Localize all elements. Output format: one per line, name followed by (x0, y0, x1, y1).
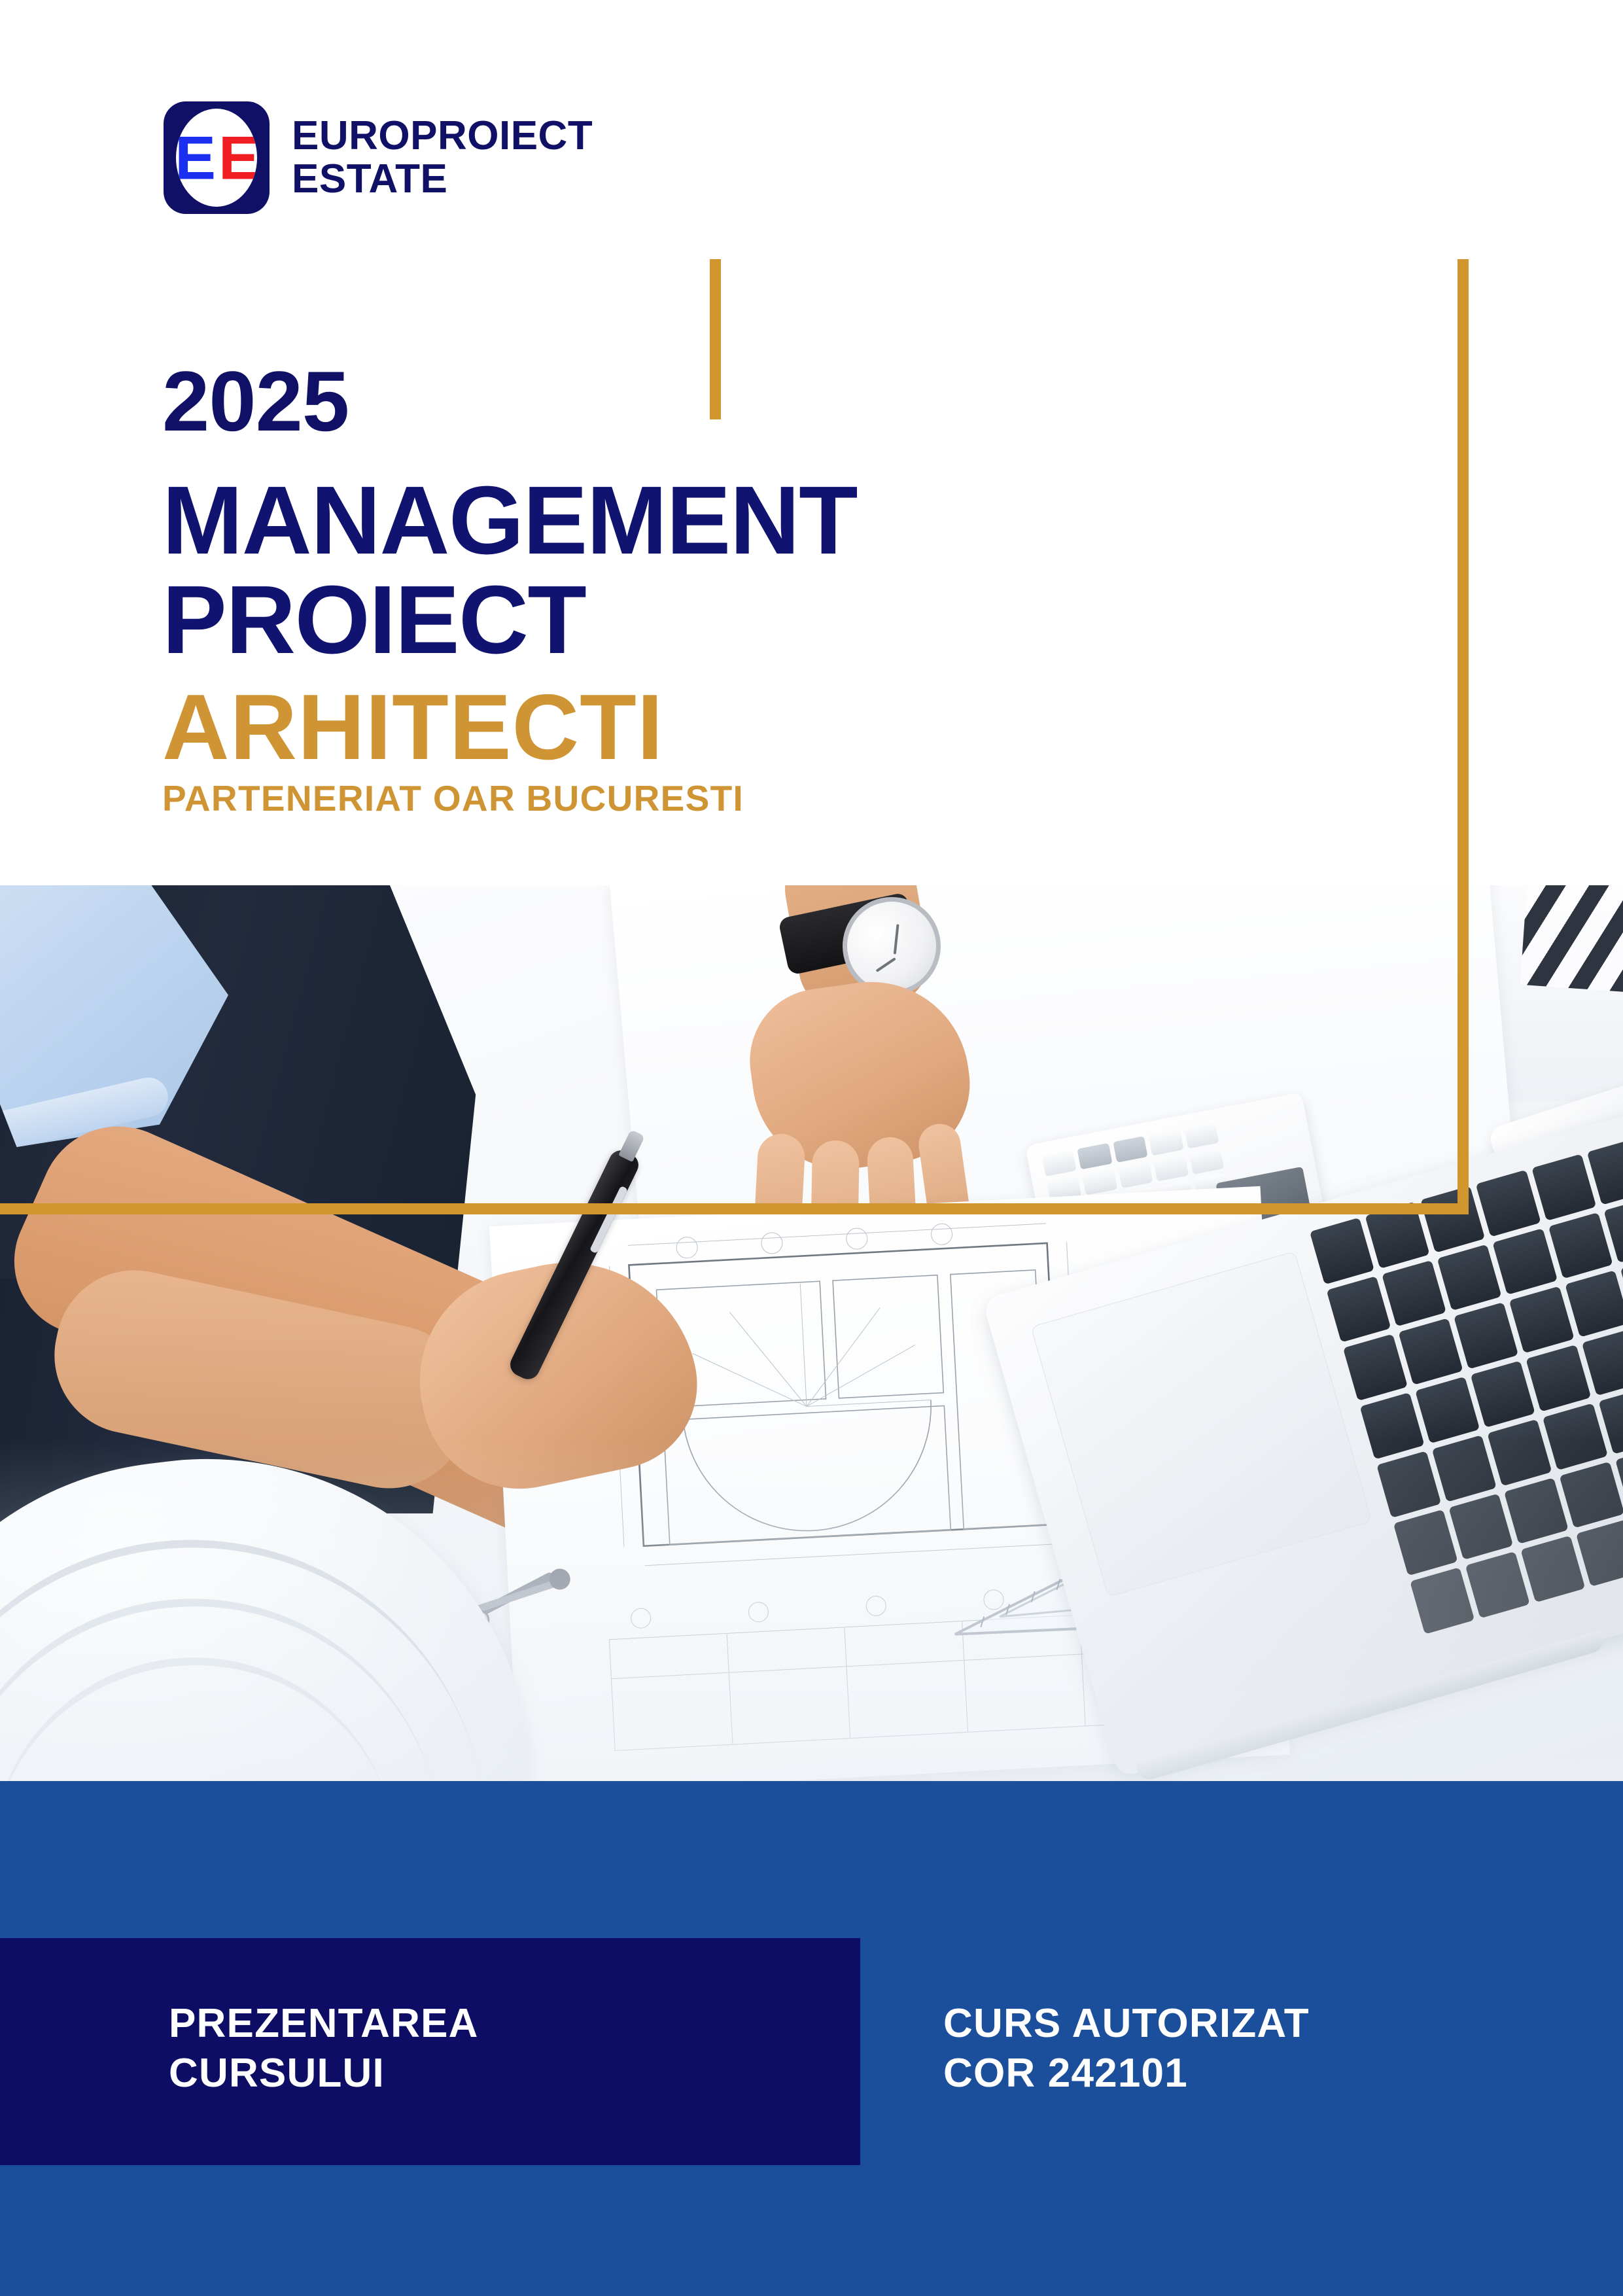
calc-key (1153, 1154, 1189, 1181)
brand-name-line2: ESTATE (292, 158, 593, 201)
calc-key (1118, 1161, 1153, 1188)
key (1560, 1461, 1623, 1528)
calc-key (1077, 1143, 1113, 1170)
key (1488, 1419, 1552, 1486)
logo-letters: E E (176, 132, 257, 183)
hard-hat-rib (0, 1634, 404, 1781)
drawing-hand (393, 1167, 798, 1507)
key (1521, 1536, 1586, 1602)
key (1360, 1392, 1425, 1459)
key (1548, 1212, 1613, 1279)
key (1310, 1218, 1374, 1284)
striped-object (1520, 885, 1623, 995)
key (1531, 1154, 1596, 1220)
cover-year: 2025 (162, 359, 857, 444)
key (1465, 1551, 1530, 1618)
logo-oval: E E (176, 109, 257, 207)
cover-subtitle: PARTENERIAT OAR BUCURESTI (162, 777, 857, 819)
key (1476, 1170, 1541, 1237)
key (1399, 1318, 1463, 1385)
photo-scene (0, 885, 1623, 1781)
key (1437, 1244, 1502, 1311)
logo-letter-blue: E (176, 132, 215, 183)
calc-key (1184, 1122, 1219, 1149)
brand-name: EUROPROIECT ESTATE (292, 115, 593, 200)
key (1415, 1377, 1480, 1443)
key (1565, 1271, 1623, 1337)
brand-logo[interactable]: E E EUROPROIECT ESTATE (164, 101, 593, 214)
key (1376, 1451, 1441, 1517)
key (1432, 1435, 1497, 1502)
footer-left-text: PREZENTAREA CURSULUI (169, 1999, 479, 2098)
cover-page: E E EUROPROIECT ESTATE 2025 MANAGEMENT P… (0, 0, 1623, 2296)
footer-left-line2: CURSULUI (169, 2049, 479, 2098)
key (1382, 1260, 1446, 1327)
footer-left-line1: PREZENTAREA (169, 1999, 479, 2049)
key (1454, 1302, 1519, 1369)
calc-key (1113, 1136, 1148, 1163)
calc-key (1149, 1129, 1184, 1156)
footer-right-line1: CURS AUTORIZAT (943, 1999, 1310, 2049)
calc-key (1041, 1150, 1077, 1176)
footer-right-text: CURS AUTORIZAT COR 242101 (943, 1999, 1310, 2098)
gold-frame-bottom (0, 1203, 1469, 1214)
key (1526, 1345, 1591, 1411)
cover-photo (0, 885, 1623, 1781)
brand-name-line1: EUROPROIECT (292, 115, 593, 158)
footer-right-line2: COR 242101 (943, 2049, 1310, 2098)
key (1576, 1520, 1623, 1587)
key (1493, 1228, 1558, 1295)
key (1504, 1477, 1569, 1544)
pen-clip (589, 1186, 628, 1254)
cover-title-line1: MANAGEMENT (162, 471, 857, 571)
key (1410, 1567, 1475, 1634)
cover-title-line2: PROIECT (162, 571, 857, 670)
cover-title-line3: ARHITECTI (162, 679, 857, 776)
calc-key (1082, 1168, 1117, 1195)
calc-key (1189, 1148, 1224, 1174)
logo-mark-icon: E E (164, 101, 270, 214)
gold-frame-right (1457, 259, 1469, 1214)
key (1471, 1360, 1535, 1427)
key (1420, 1186, 1485, 1252)
key (1343, 1334, 1408, 1401)
key (1448, 1493, 1513, 1560)
key (1393, 1509, 1458, 1576)
resting-hand (752, 925, 1027, 1199)
key (1509, 1286, 1574, 1353)
key (1326, 1276, 1391, 1343)
key (1543, 1403, 1607, 1470)
logo-letter-red: E (218, 132, 257, 183)
cover-title-block: 2025 MANAGEMENT PROIECT ARHITECTI PARTEN… (162, 359, 857, 819)
